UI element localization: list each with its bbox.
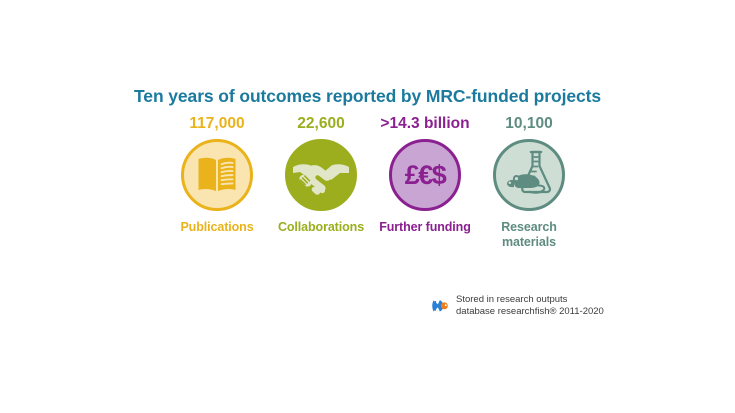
stat-publications: 117,000 [168,114,266,235]
badge-further-funding: £€$ [389,139,461,211]
stat-label-collaborations: Collaborations [278,220,364,235]
stat-label-research-materials: Research materials [480,220,578,250]
badge-research-materials [493,139,565,211]
stats-row: 117,000 [168,114,578,250]
open-book-icon [191,149,243,201]
footer-line-1: Stored in research outputs [456,294,604,306]
researchfish-logo-icon [430,296,450,316]
stat-further-funding: >14.3 billion £€$ Further funding [376,114,474,235]
page-title: Ten years of outcomes reported by MRC-fu… [0,86,735,107]
footer-attribution: Stored in research outputs database rese… [430,294,604,318]
stat-collaborations: 22,600 [272,114,370,235]
stat-research-materials: 10,100 [480,114,578,250]
stat-value-research-materials: 10,100 [505,114,552,133]
badge-publications [181,139,253,211]
footer-line-2: database researchfish® 2011-2020 [456,306,604,318]
stat-value-collaborations: 22,600 [297,114,344,133]
stat-label-publications: Publications [180,220,253,235]
badge-collaborations [285,139,357,211]
handshake-icon [291,145,351,205]
footer-text: Stored in research outputs database rese… [456,294,604,318]
mouse-flask-icon [500,146,558,204]
stat-value-further-funding: >14.3 billion [380,114,469,133]
stat-label-further-funding: Further funding [379,220,471,235]
currency-icon: £€$ [405,162,446,189]
infographic-canvas: Ten years of outcomes reported by MRC-fu… [0,0,735,413]
stat-value-publications: 117,000 [189,114,244,133]
